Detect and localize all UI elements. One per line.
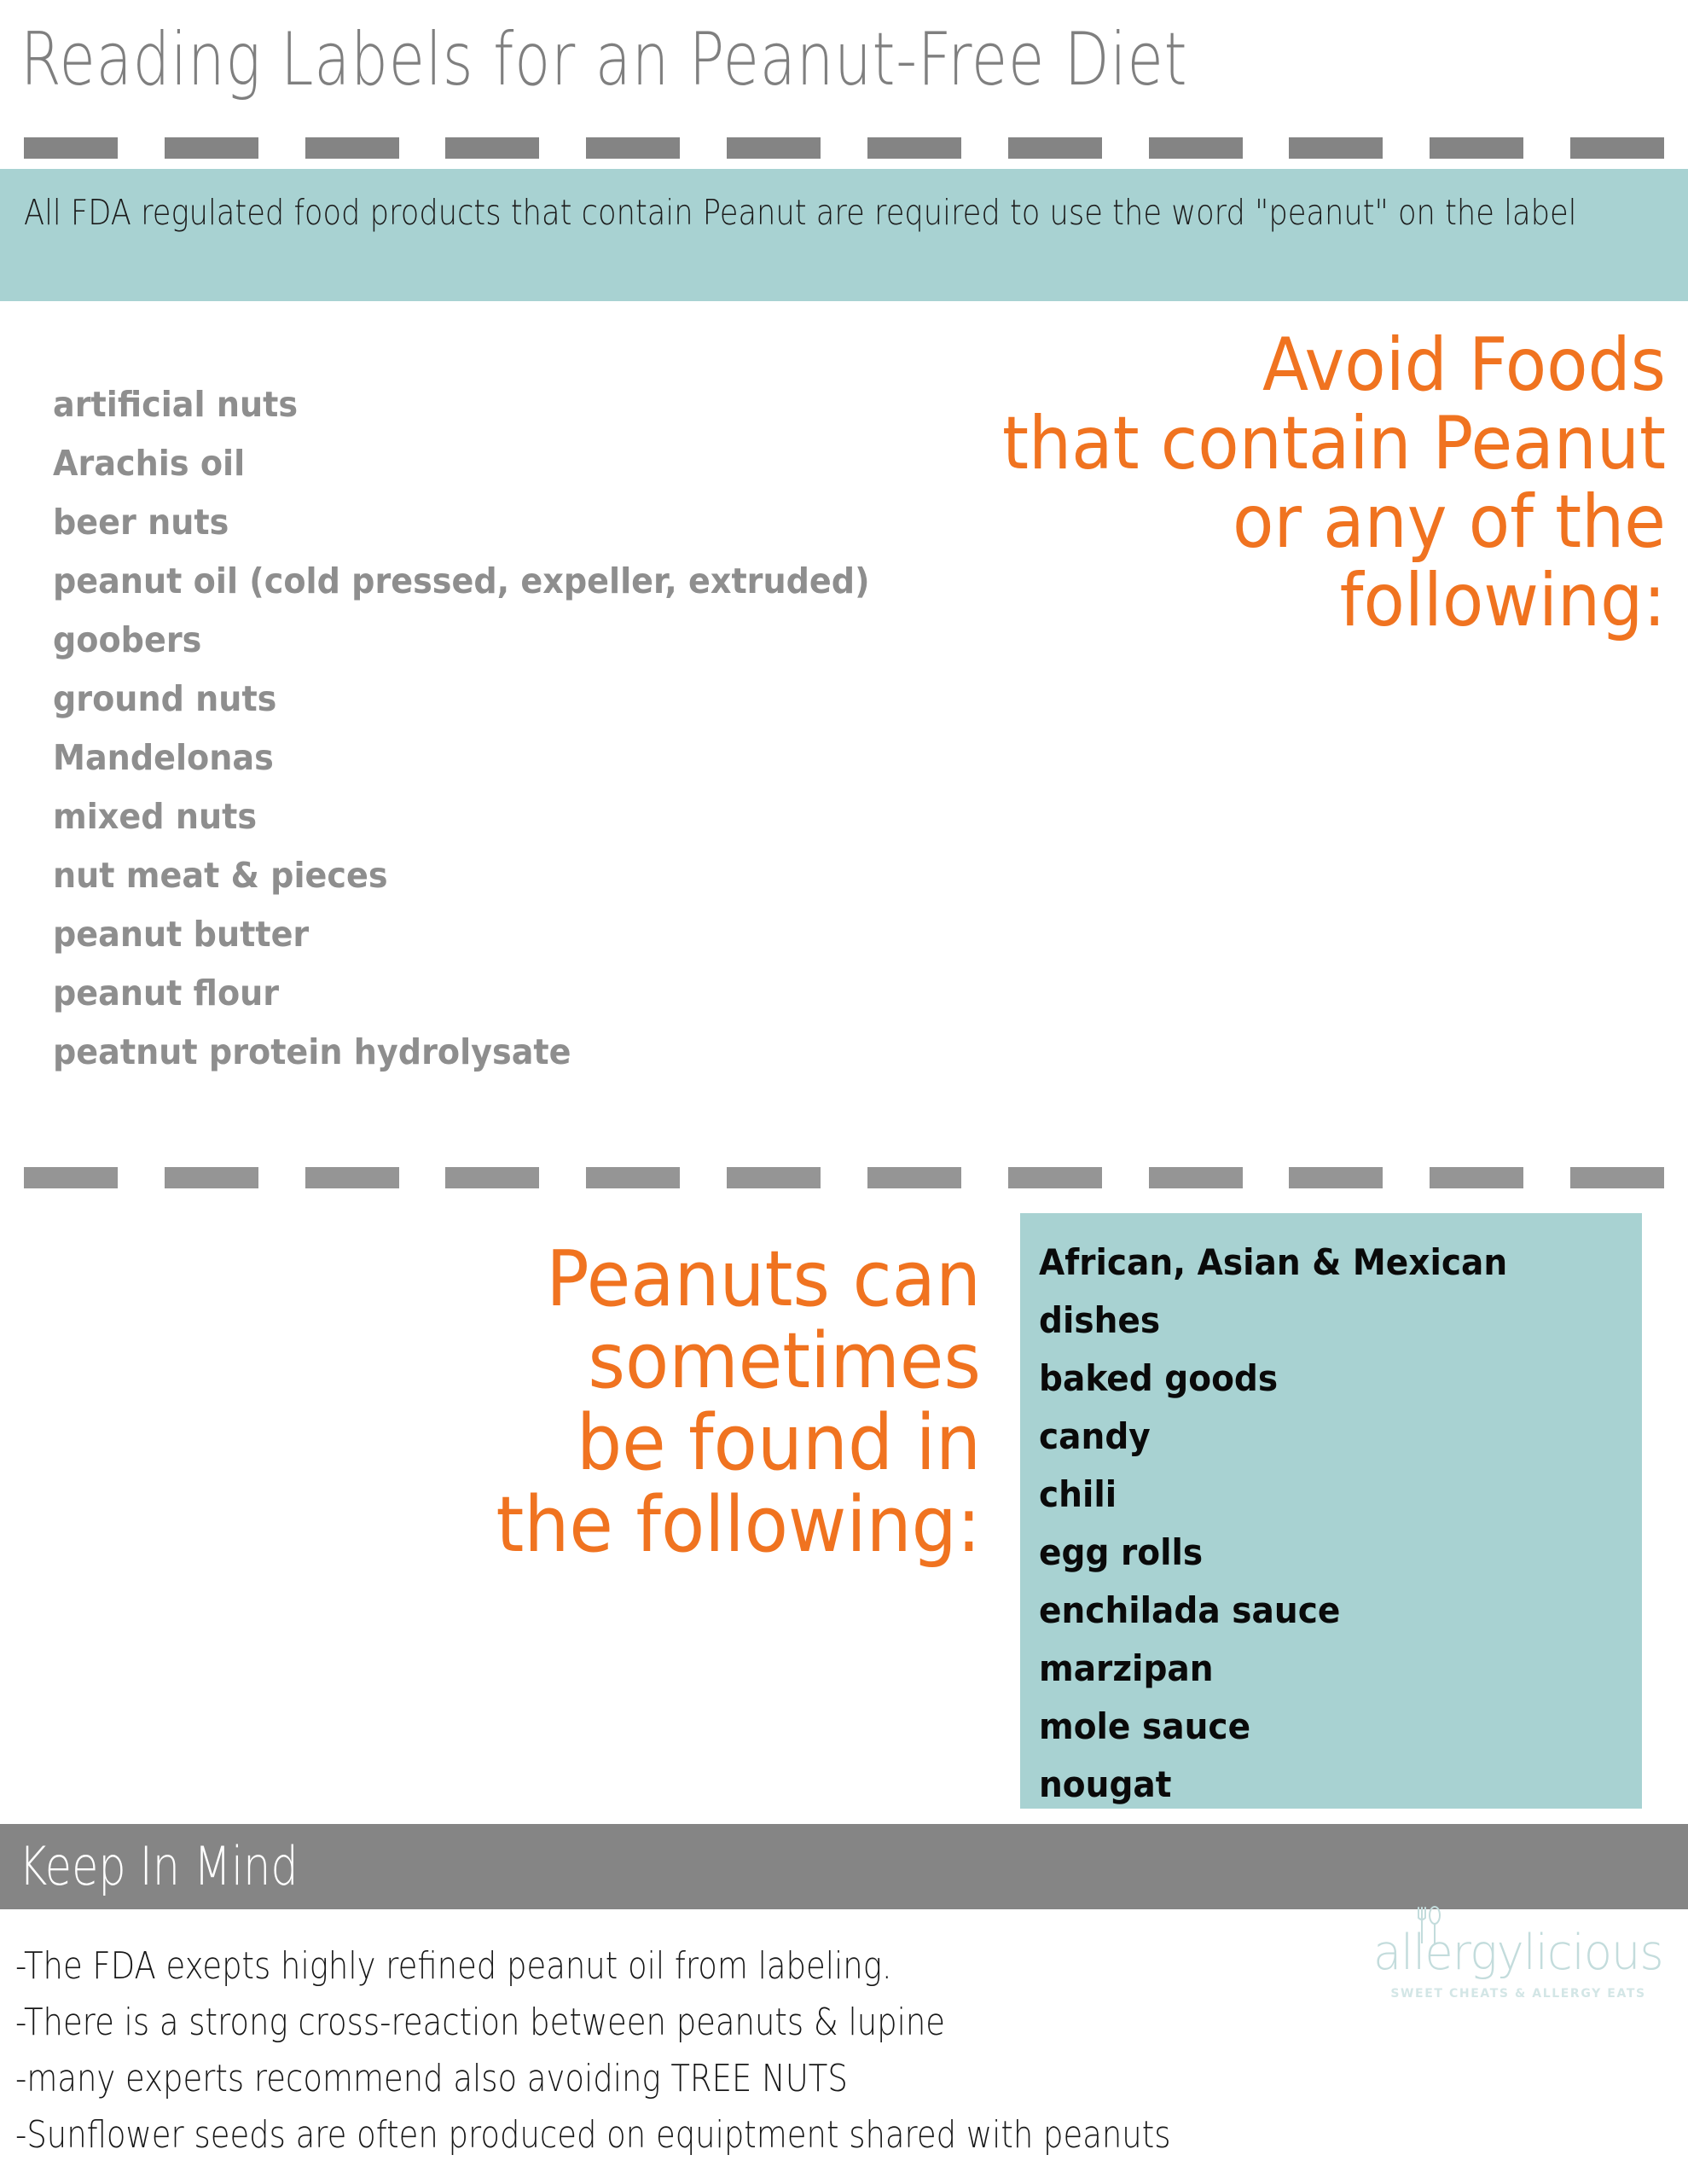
- note-line: -many experts recommend also avoiding TR…: [15, 2051, 1233, 2107]
- logo-tagline: SWEET CHEATS & ALLERGY EATS: [1366, 1987, 1671, 2001]
- note-line: -There is a strong cross-reaction betwee…: [15, 1995, 1233, 2051]
- logo-name: allergylicious: [1373, 1926, 1663, 1979]
- list-item: African, Asian & Mexican: [1039, 1234, 1600, 1292]
- divider-dash: [1149, 1167, 1243, 1188]
- avoid-heading-line: Avoid Foods: [975, 326, 1666, 404]
- brand-logo: allergylicious SWEET CHEATS & ALLERGY EA…: [1365, 1926, 1672, 2001]
- divider-dash: [165, 1167, 258, 1188]
- divider-dash: [1008, 137, 1102, 159]
- keep-in-mind-title: Keep In Mind: [19, 1831, 299, 1902]
- divider-dash: [727, 1167, 821, 1188]
- divider-dash: [1149, 137, 1243, 159]
- divider-dash: [727, 137, 821, 159]
- list-item: enchilada sauce: [1039, 1582, 1600, 1640]
- divider-dash: [1430, 1167, 1523, 1188]
- keep-in-mind-bar: Keep In Mind: [0, 1824, 1688, 1909]
- list-item: dishes: [1039, 1292, 1600, 1350]
- divider-dash: [1008, 1167, 1102, 1188]
- list-item: candy: [1039, 1408, 1600, 1466]
- list-item: peatnut protein hydrolysate: [53, 1023, 942, 1082]
- divider-dash: [24, 137, 118, 159]
- note-line: -Sunflower seeds are often produced on e…: [15, 2107, 1233, 2164]
- divider-dash: [445, 137, 539, 159]
- sometimes-heading-line: Peanuts can: [322, 1239, 981, 1321]
- list-item: ground nuts: [53, 670, 942, 729]
- list-item: peanut flour: [53, 964, 942, 1023]
- list-item: chili: [1039, 1466, 1600, 1524]
- list-item: goobers: [53, 611, 942, 670]
- divider-dash: [1430, 137, 1523, 159]
- divider-dash: [1289, 1167, 1383, 1188]
- list-item: artificial nuts: [53, 375, 942, 434]
- list-item: peanut oil (cold pressed, expeller, extr…: [53, 552, 942, 611]
- divider-dash: [1570, 137, 1664, 159]
- note-line: -The FDA exepts highly refined peanut oi…: [15, 1938, 1233, 1995]
- divider-dash: [867, 1167, 961, 1188]
- list-item: mixed nuts: [53, 787, 942, 846]
- intro-banner: All FDA regulated food products that con…: [0, 169, 1688, 301]
- avoid-ingredients-list: artificial nuts Arachis oil beer nuts pe…: [53, 375, 1008, 1082]
- list-item: baked goods: [1039, 1350, 1600, 1408]
- keep-in-mind-notes: -The FDA exepts highly refined peanut oi…: [15, 1938, 1465, 2164]
- list-item: egg rolls: [1039, 1524, 1600, 1582]
- avoid-heading-line: following:: [975, 561, 1666, 640]
- sometimes-found-heading: Peanuts can sometimes be found in the fo…: [273, 1239, 981, 1566]
- divider-dash: [24, 1167, 118, 1188]
- sometimes-heading-line: be found in: [322, 1403, 981, 1484]
- infographic-page: Reading Labels for an Peanut-Free Diet A…: [0, 0, 1688, 2184]
- avoid-foods-heading: Avoid Foods that contain Peanut or any o…: [915, 326, 1666, 640]
- divider-dash: [1570, 1167, 1664, 1188]
- sometimes-heading-line: the following:: [322, 1484, 981, 1566]
- list-item: nougat: [1039, 1756, 1600, 1814]
- list-item: beer nuts: [53, 493, 942, 552]
- list-item: marzipan: [1039, 1640, 1600, 1698]
- list-item: mole sauce: [1039, 1698, 1600, 1756]
- avoid-heading-line: that contain Peanut: [975, 404, 1666, 483]
- list-item: Mandelonas: [53, 729, 942, 787]
- divider-dash: [165, 137, 258, 159]
- list-item: Arachis oil: [53, 434, 942, 493]
- logo-wrap: allergylicious SWEET CHEATS & ALLERGY EA…: [1366, 1926, 1671, 2001]
- list-item: nut meat & pieces: [53, 846, 942, 905]
- divider-dash: [586, 1167, 680, 1188]
- divider-dashes-top: [0, 137, 1688, 159]
- divider-dash: [1289, 137, 1383, 159]
- divider-dash: [305, 1167, 399, 1188]
- avoid-heading-line: or any of the: [975, 483, 1666, 561]
- page-title: Reading Labels for an Peanut-Free Diet: [20, 15, 1317, 104]
- list-item: peanut butter: [53, 905, 942, 964]
- divider-dash: [586, 137, 680, 159]
- divider-dash: [867, 137, 961, 159]
- divider-dash: [305, 137, 399, 159]
- divider-dash: [445, 1167, 539, 1188]
- divider-dashes-middle: [0, 1167, 1688, 1188]
- intro-banner-text: All FDA regulated food products that con…: [24, 188, 1660, 237]
- sometimes-heading-line: sometimes: [322, 1321, 981, 1403]
- sometimes-foods-box: African, Asian & Mexican dishes baked go…: [1020, 1213, 1642, 1809]
